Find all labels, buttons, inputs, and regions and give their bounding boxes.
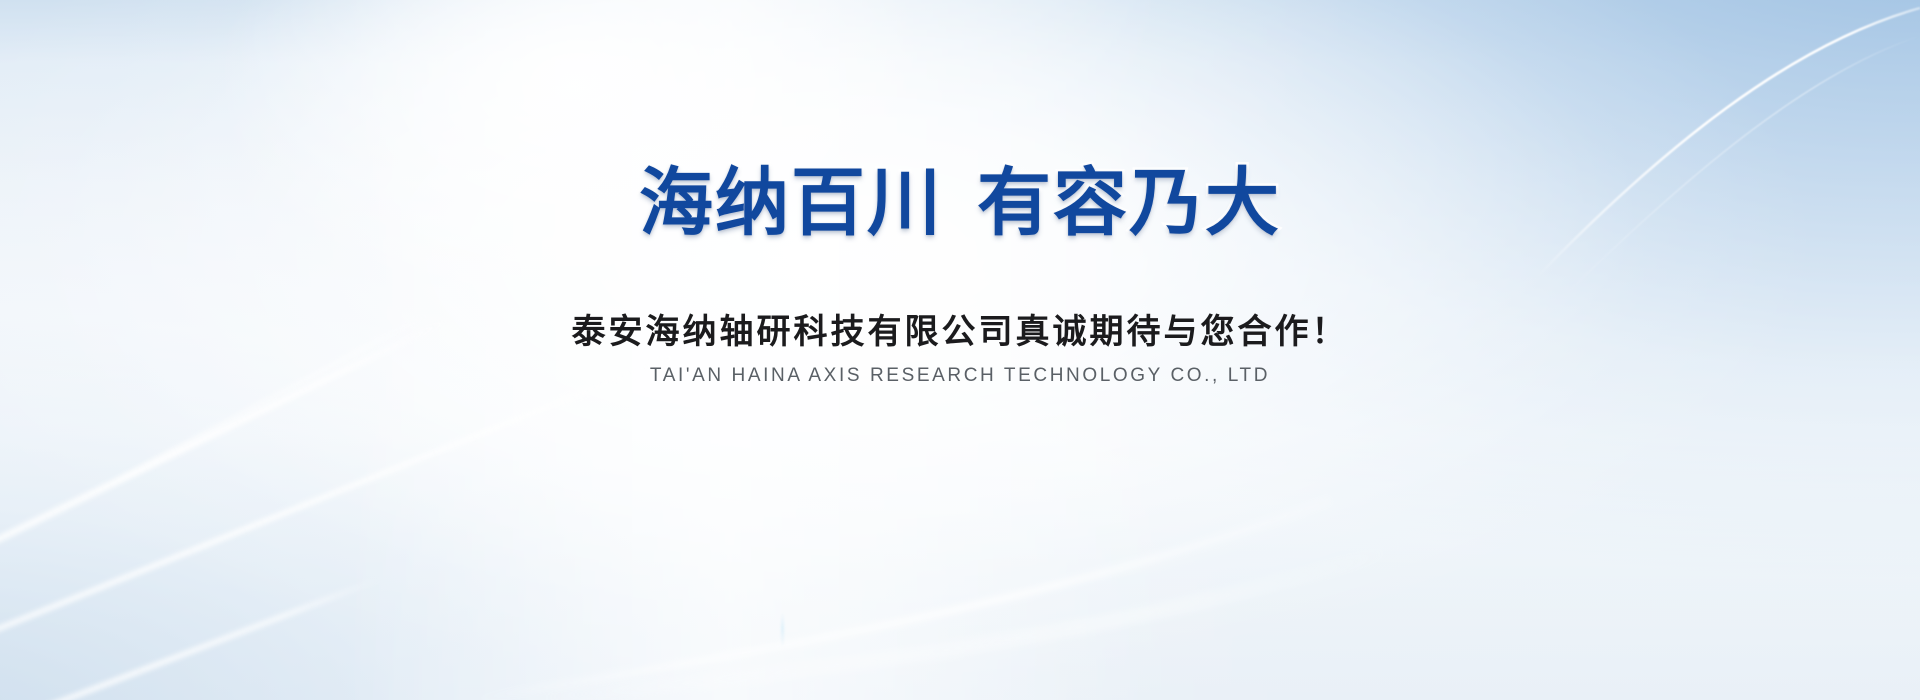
light-glint <box>781 612 784 648</box>
banner-subtitle-en: TAI'AN HAINA AXIS RESEARCH TECHNOLOGY CO… <box>0 364 1920 389</box>
light-streak-1 <box>0 316 450 594</box>
light-streak-2 <box>0 352 678 695</box>
banner-subtitle-zh: 泰安海纳轴研科技有限公司真诚期待与您合作！ <box>0 311 1920 354</box>
arc-bottom-sweep-soft <box>520 548 1400 700</box>
hero-banner: 海纳百川有容乃大 泰安海纳轴研科技有限公司真诚期待与您合作！ TAI'AN HA… <box>0 0 1920 700</box>
arc-bottom-sweep <box>470 500 1330 700</box>
background-gradient-top-right <box>0 0 1920 700</box>
background-arc-decoration <box>0 0 1920 700</box>
headline-part-1: 海纳百川 <box>639 161 943 244</box>
background-light-column <box>0 0 1920 700</box>
background-gradient-top <box>0 0 1920 700</box>
arc-top-right <box>1536 8 1920 278</box>
light-streak-4 <box>110 312 430 485</box>
background-gradient-bottom-left <box>0 0 1920 700</box>
background-center-glow <box>0 0 1920 700</box>
arc-top-right-secondary <box>1560 36 1920 300</box>
banner-headline: 海纳百川有容乃大 <box>0 162 1920 245</box>
banner-content: 海纳百川有容乃大 泰安海纳轴研科技有限公司真诚期待与您合作！ TAI'AN HA… <box>0 0 1920 700</box>
light-streak-3 <box>0 575 384 700</box>
headline-part-2: 有容乃大 <box>977 161 1281 244</box>
background-light-hotspot <box>0 0 1920 700</box>
